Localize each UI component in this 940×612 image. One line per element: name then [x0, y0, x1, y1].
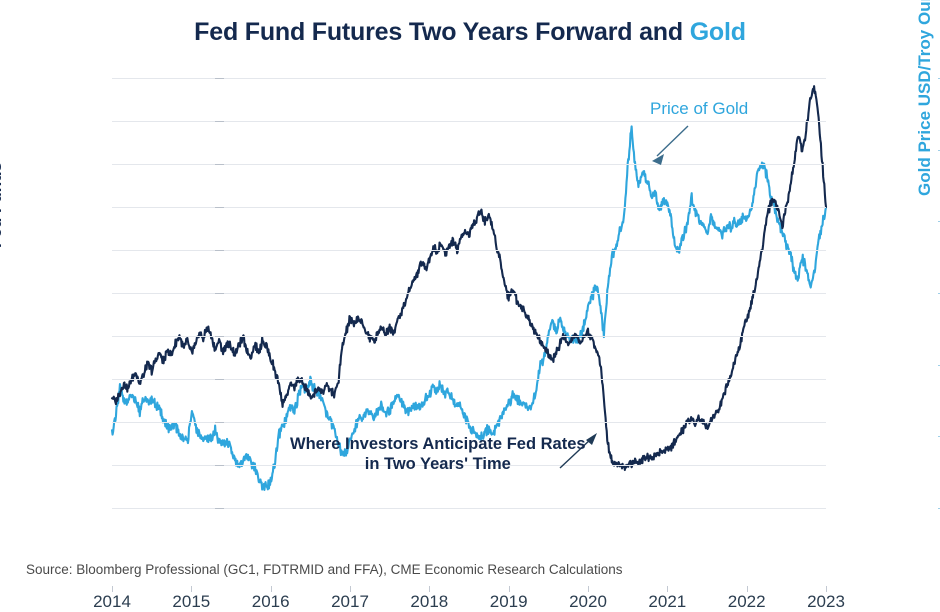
x-axis-tick-mark — [350, 586, 351, 592]
y-axis-left-tick-mark — [215, 422, 224, 423]
x-axis-tick-mark — [747, 586, 748, 592]
y-axis-left-tick-mark — [215, 293, 224, 294]
title-gold-text: Gold — [690, 18, 746, 46]
gold-annotation-label: Price of Gold — [650, 99, 748, 119]
y-axis-left-tick-mark — [215, 465, 224, 466]
y-axis-left-tick-mark — [215, 336, 224, 337]
x-axis-tick-mark — [667, 586, 668, 592]
y-axis-left-tick-mark — [215, 250, 224, 251]
x-axis-tick-label: 2021 — [648, 592, 686, 612]
y-axis-left-tick-mark — [215, 121, 224, 122]
x-axis-tick-mark — [112, 586, 113, 592]
fed-annotation-line-2: in Two Years' Time — [290, 454, 586, 474]
title-main-text: Fed Fund Futures Two Years Forward and — [194, 18, 690, 46]
x-axis-tick-mark — [271, 586, 272, 592]
fed-annotation-label: Where Investors Anticipate Fed Rates in … — [290, 434, 586, 474]
x-axis-tick-mark — [429, 586, 430, 592]
x-axis-tick-mark — [826, 586, 827, 592]
x-axis-tick-label: 2020 — [569, 592, 607, 612]
chart-container: Fed Fund Futures Two Years Forward and G… — [0, 0, 940, 600]
source-note: Source: Bloomberg Professional (GC1, FDT… — [26, 562, 622, 577]
fed-funds-line — [112, 86, 826, 470]
x-axis-tick-label: 2014 — [93, 592, 131, 612]
x-axis-tick-label: 2016 — [252, 592, 290, 612]
x-axis-tick-label: 2018 — [410, 592, 448, 612]
y-axis-left-tick-mark — [215, 78, 224, 79]
y-axis-right-label: Gold Price USD/Troy Ounce — [915, 0, 935, 196]
chart-title: Fed Fund Futures Two Years Forward and G… — [0, 18, 940, 47]
x-axis-tick-mark — [509, 586, 510, 592]
y-axis-left-tick-mark — [215, 379, 224, 380]
fed-annotation-line-1: Where Investors Anticipate Fed Rates — [290, 435, 586, 453]
x-axis-tick-mark — [191, 586, 192, 592]
y-axis-left-tick-mark — [215, 508, 224, 509]
y-axis-left-label: Fed Funds — [0, 162, 6, 248]
x-axis-tick-label: 2023 — [807, 592, 845, 612]
x-axis-tick-label: 2015 — [172, 592, 210, 612]
x-axis-tick-label: 2017 — [331, 592, 369, 612]
x-axis-tick-mark — [588, 586, 589, 592]
x-axis-tick-label: 2019 — [490, 592, 528, 612]
y-axis-left-tick-mark — [215, 164, 224, 165]
y-axis-left-tick-mark — [215, 207, 224, 208]
x-axis-tick-label: 2022 — [728, 592, 766, 612]
